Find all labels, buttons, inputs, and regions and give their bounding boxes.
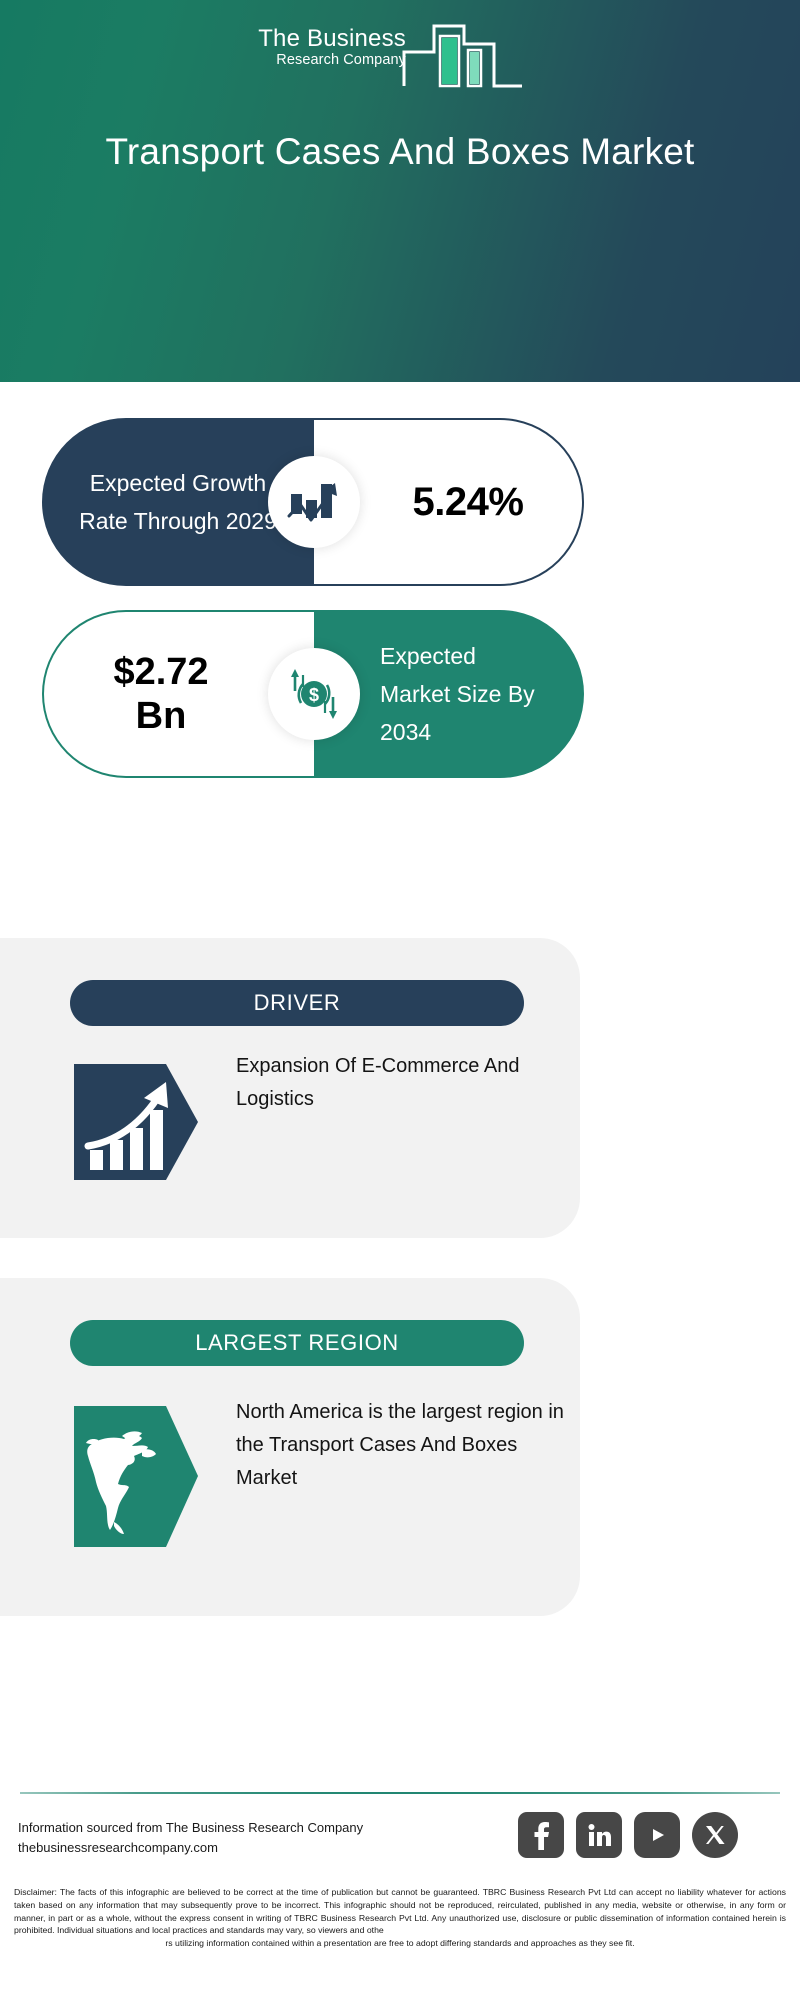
logo-text-block: The Business Research Company [216,26,406,69]
dollar-cycle-icon: $ [268,648,360,740]
largest-region-panel: LARGEST REGION North America is the larg… [0,1278,580,1616]
market-size-label: Expected Market Size By 2034 [360,637,538,751]
market-size-value: $2.72 Bn [89,650,269,738]
x-twitter-icon[interactable] [692,1812,738,1858]
svg-text:$: $ [309,685,319,705]
growth-bars-arrow-hex-icon [74,1058,202,1186]
linkedin-icon[interactable] [576,1812,622,1858]
growth-value: 5.24% [373,480,524,525]
driver-pill-label: DRIVER [254,990,341,1016]
driver-body-text: Expansion Of E-Commerce And Logistics [236,1050,566,1116]
expected-growth-rate-card: Expected Growth Rate Through 2029 5.24% [42,418,584,586]
logo-line-1: The Business [216,26,406,52]
driver-panel: DRIVER Expansion Of E-Commerce And Logis… [0,938,580,1238]
footer-divider [20,1792,780,1794]
page-title: Transport Cases And Boxes Market [40,128,760,175]
driver-pill: DRIVER [70,980,524,1026]
disclaimer-last-line: rs utilizing information contained withi… [14,1937,786,1950]
source-website[interactable]: thebusinessresearchcompany.com [18,1838,438,1858]
source-line-1: Information sourced from The Business Re… [18,1818,438,1838]
social-links [518,1809,780,1861]
youtube-icon[interactable] [634,1812,680,1858]
logo-line-2: Research Company [216,52,406,69]
largest-region-body-text: North America is the largest region in t… [236,1396,566,1495]
largest-region-pill: LARGEST REGION [70,1320,524,1366]
infographic-page: The Business Research Company Transport … [0,0,800,2000]
north-america-map-hex-icon [74,1404,202,1532]
market-size-value-line2: Bn [136,695,187,737]
disclaimer-main: Disclaimer: The facts of this infographi… [14,1887,786,1935]
growth-chart-arrow-icon [268,456,360,548]
source-attribution: Information sourced from The Business Re… [18,1818,438,1858]
bar-chart-logo-mark-icon [402,22,524,88]
company-logo: The Business Research Company [216,22,526,88]
expected-market-size-card: $2.72 Bn Expected Market Size By 2034 $ [42,610,584,778]
disclaimer-text: Disclaimer: The facts of this infographi… [14,1886,786,1950]
market-size-value-line1: $2.72 [113,651,208,693]
growth-label: Expected Growth Rate Through 2029 [63,464,293,540]
header-banner: The Business Research Company Transport … [0,0,800,382]
largest-region-pill-label: LARGEST REGION [195,1330,399,1356]
facebook-icon[interactable] [518,1812,564,1858]
